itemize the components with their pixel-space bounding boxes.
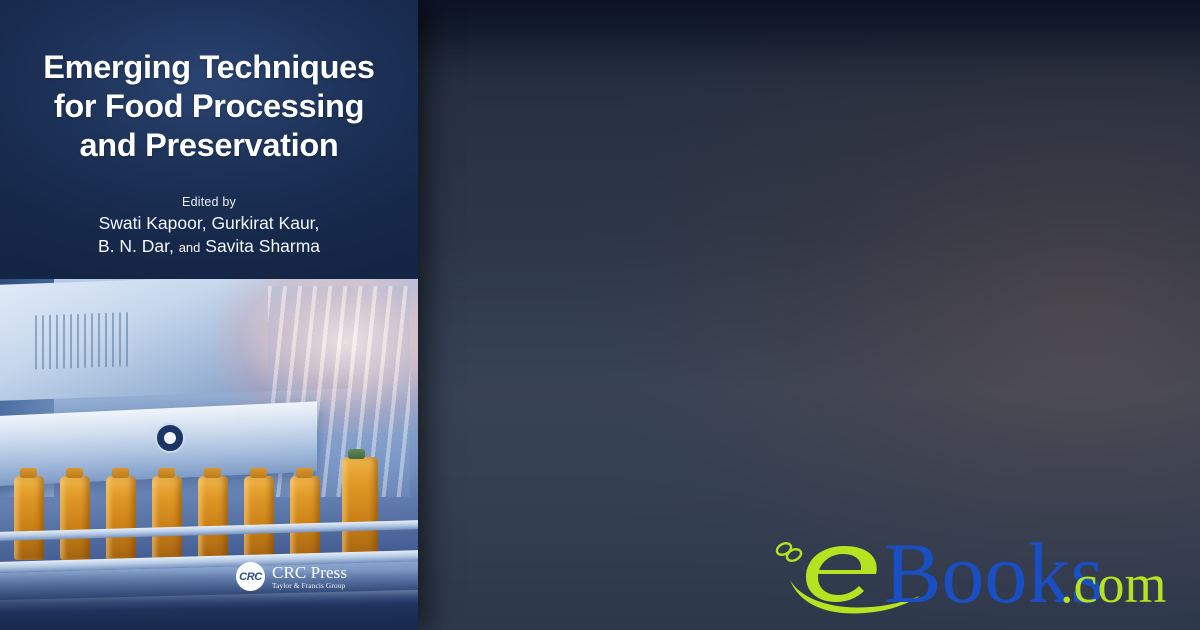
cover-editors: Swati Kapoor, Gurkirat Kaur, B. N. Dar, … bbox=[0, 212, 418, 258]
editors-line-2-before: B. N. Dar, bbox=[98, 236, 174, 256]
photo-bottle bbox=[106, 476, 136, 560]
crc-press-group: Taylor & Francis Group bbox=[272, 582, 347, 590]
photo-bottle bbox=[290, 476, 320, 560]
photo-bottle-large bbox=[342, 457, 378, 560]
editors-line-2: B. N. Dar, and Savita Sharma bbox=[0, 235, 418, 258]
cover-title-line-2: for Food Processing bbox=[14, 87, 404, 126]
promo-card: Preservation Edited by Swati Kapoor, Gur… bbox=[0, 0, 1200, 630]
photo-bottom-shadow bbox=[0, 570, 418, 630]
photo-bottle bbox=[244, 476, 274, 560]
cover-navy-band: Emerging Techniques for Food Processing … bbox=[0, 0, 418, 279]
edited-by-label: Edited by bbox=[0, 195, 418, 209]
photo-bottle bbox=[198, 476, 228, 560]
crc-press-name: CRC Press bbox=[272, 564, 347, 581]
crc-press-wordmark: CRC Press Taylor & Francis Group bbox=[272, 564, 347, 590]
editors-line-2-and: and bbox=[179, 240, 201, 255]
photo-bottle bbox=[60, 476, 90, 560]
cover-title-line-1: Emerging Techniques bbox=[14, 48, 404, 87]
photo-bottle-row bbox=[0, 476, 418, 560]
crc-press-logo: CRC CRC Press Taylor & Francis Group bbox=[236, 562, 347, 591]
editors-line-1: Swati Kapoor, Gurkirat Kaur, bbox=[0, 212, 418, 235]
photo-gauge-dial bbox=[155, 423, 185, 453]
photo-bottle bbox=[152, 476, 182, 560]
cover-title-line-3: and Preservation bbox=[14, 126, 404, 165]
book-cover[interactable]: Emerging Techniques for Food Processing … bbox=[0, 0, 418, 630]
ebooks-dotcom-word: .com bbox=[1060, 554, 1166, 614]
ebooks-com-logo[interactable]: Books .com bbox=[772, 524, 1182, 620]
editors-line-2-after: Savita Sharma bbox=[205, 236, 320, 256]
crc-roundel-icon: CRC bbox=[236, 562, 265, 591]
cover-title: Emerging Techniques for Food Processing … bbox=[14, 48, 404, 164]
cover-photo bbox=[0, 279, 418, 630]
ampersand-flourish-icon bbox=[775, 541, 803, 563]
photo-bottle bbox=[14, 476, 44, 560]
